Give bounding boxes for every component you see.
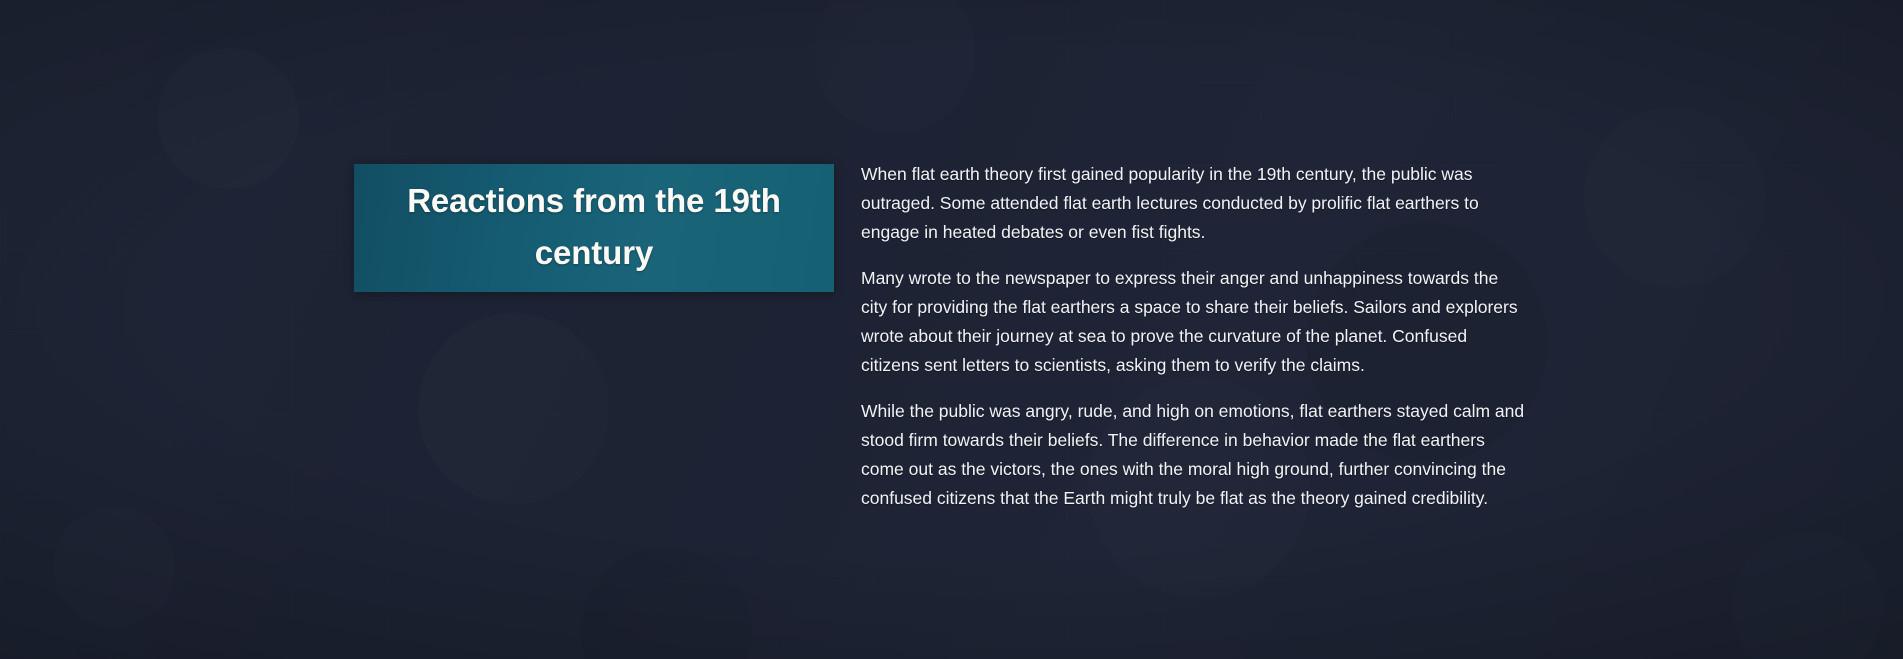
slide-content: Reactions from the 19th century When fla… (0, 0, 1903, 659)
slide-title-banner: Reactions from the 19th century (354, 164, 834, 292)
body-paragraph-2: Many wrote to the newspaper to express t… (861, 264, 1529, 380)
body-paragraph-3: While the public was angry, rude, and hi… (861, 397, 1529, 513)
body-paragraph-1: When flat earth theory first gained popu… (861, 160, 1529, 247)
slide-body-column: When flat earth theory first gained popu… (861, 160, 1529, 513)
slide-title: Reactions from the 19th century (372, 175, 816, 279)
presentation-slide: Reactions from the 19th century When fla… (0, 0, 1903, 659)
